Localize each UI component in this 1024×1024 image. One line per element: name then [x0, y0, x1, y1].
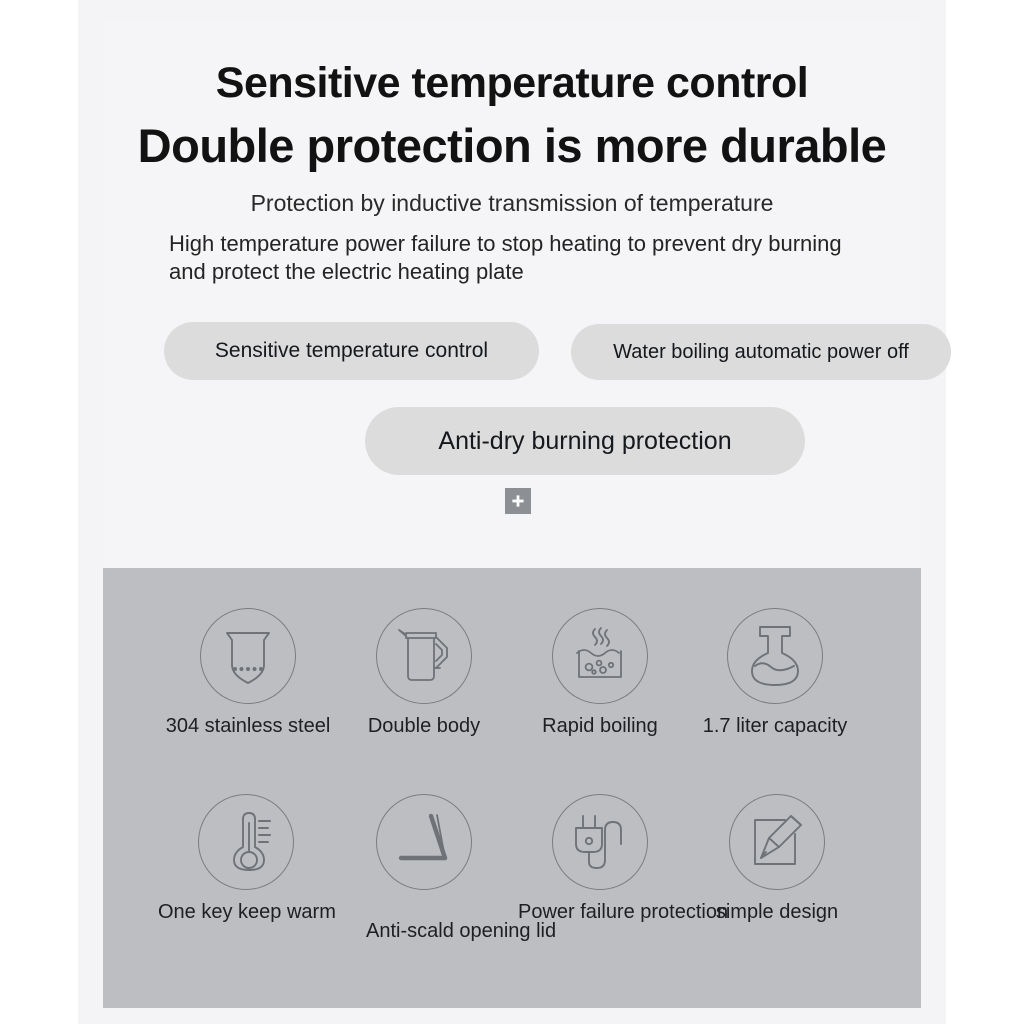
- icon-circle: [198, 794, 294, 890]
- hero-body-text: High temperature power failure to stop h…: [169, 230, 869, 286]
- feature-item-simple-design[interactable]: simple design: [689, 794, 865, 924]
- shield-stars-icon: [219, 625, 277, 687]
- icon-circle: [552, 794, 648, 890]
- icon-circle: [727, 608, 823, 704]
- hero-section: Sensitive temperature control Double pro…: [103, 22, 921, 567]
- feature-item-1-7-liter-capacity[interactable]: 1.7 liter capacity: [687, 608, 863, 738]
- feature-item-anti-scald-opening-lid[interactable]: Anti-scald opening lid: [336, 794, 512, 943]
- feature-item-one-key-keep-warm[interactable]: One key keep warm: [158, 794, 334, 924]
- icon-circle: [376, 608, 472, 704]
- feature-label: Anti-scald opening lid: [366, 920, 512, 943]
- feature-item-304-stainless-steel[interactable]: 304 stainless steel: [160, 608, 336, 738]
- feature-label: Power failure protection: [518, 901, 688, 924]
- boiling-pot-icon: [569, 625, 631, 687]
- feature-label: One key keep warm: [158, 901, 334, 924]
- headline-secondary: Double protection is more durable: [103, 122, 921, 169]
- feature-item-double-body[interactable]: Double body: [336, 608, 512, 738]
- feature-item-power-failure-protection[interactable]: Power failure protection: [512, 794, 688, 924]
- feature-label: 1.7 liter capacity: [687, 715, 863, 738]
- pencil-note-icon: [747, 812, 807, 872]
- thermometer-icon: [217, 809, 275, 875]
- feature-label: simple design: [689, 901, 865, 924]
- hero-subline: Protection by inductive transmission of …: [103, 190, 921, 217]
- plus-icon: [510, 493, 526, 509]
- kettle-icon: [393, 624, 455, 688]
- feature-label: Rapid boiling: [512, 715, 688, 738]
- feature-item-rapid-boiling[interactable]: Rapid boiling: [512, 608, 688, 738]
- feature-pill-water-boiling-automatic-power-off[interactable]: Water boiling automatic power off: [571, 324, 951, 380]
- feature-pill-sensitive-temperature-control[interactable]: Sensitive temperature control: [164, 322, 539, 380]
- icon-circle: [729, 794, 825, 890]
- feature-pill-anti-dry-burning-protection[interactable]: Anti-dry burning protection: [365, 407, 805, 475]
- headline-primary: Sensitive temperature control: [103, 62, 921, 105]
- power-plug-icon: [569, 810, 631, 874]
- feature-icon-panel: 304 stainless steel Double body: [103, 568, 921, 1008]
- flask-icon: [746, 623, 804, 689]
- icon-circle: [200, 608, 296, 704]
- icon-circle: [376, 794, 472, 890]
- expand-button[interactable]: [505, 488, 531, 514]
- opening-lid-icon: [393, 812, 455, 872]
- feature-label: 304 stainless steel: [160, 715, 336, 738]
- feature-label: Double body: [336, 715, 512, 738]
- icon-circle: [552, 608, 648, 704]
- product-infographic-page: Sensitive temperature control Double pro…: [0, 0, 1024, 1024]
